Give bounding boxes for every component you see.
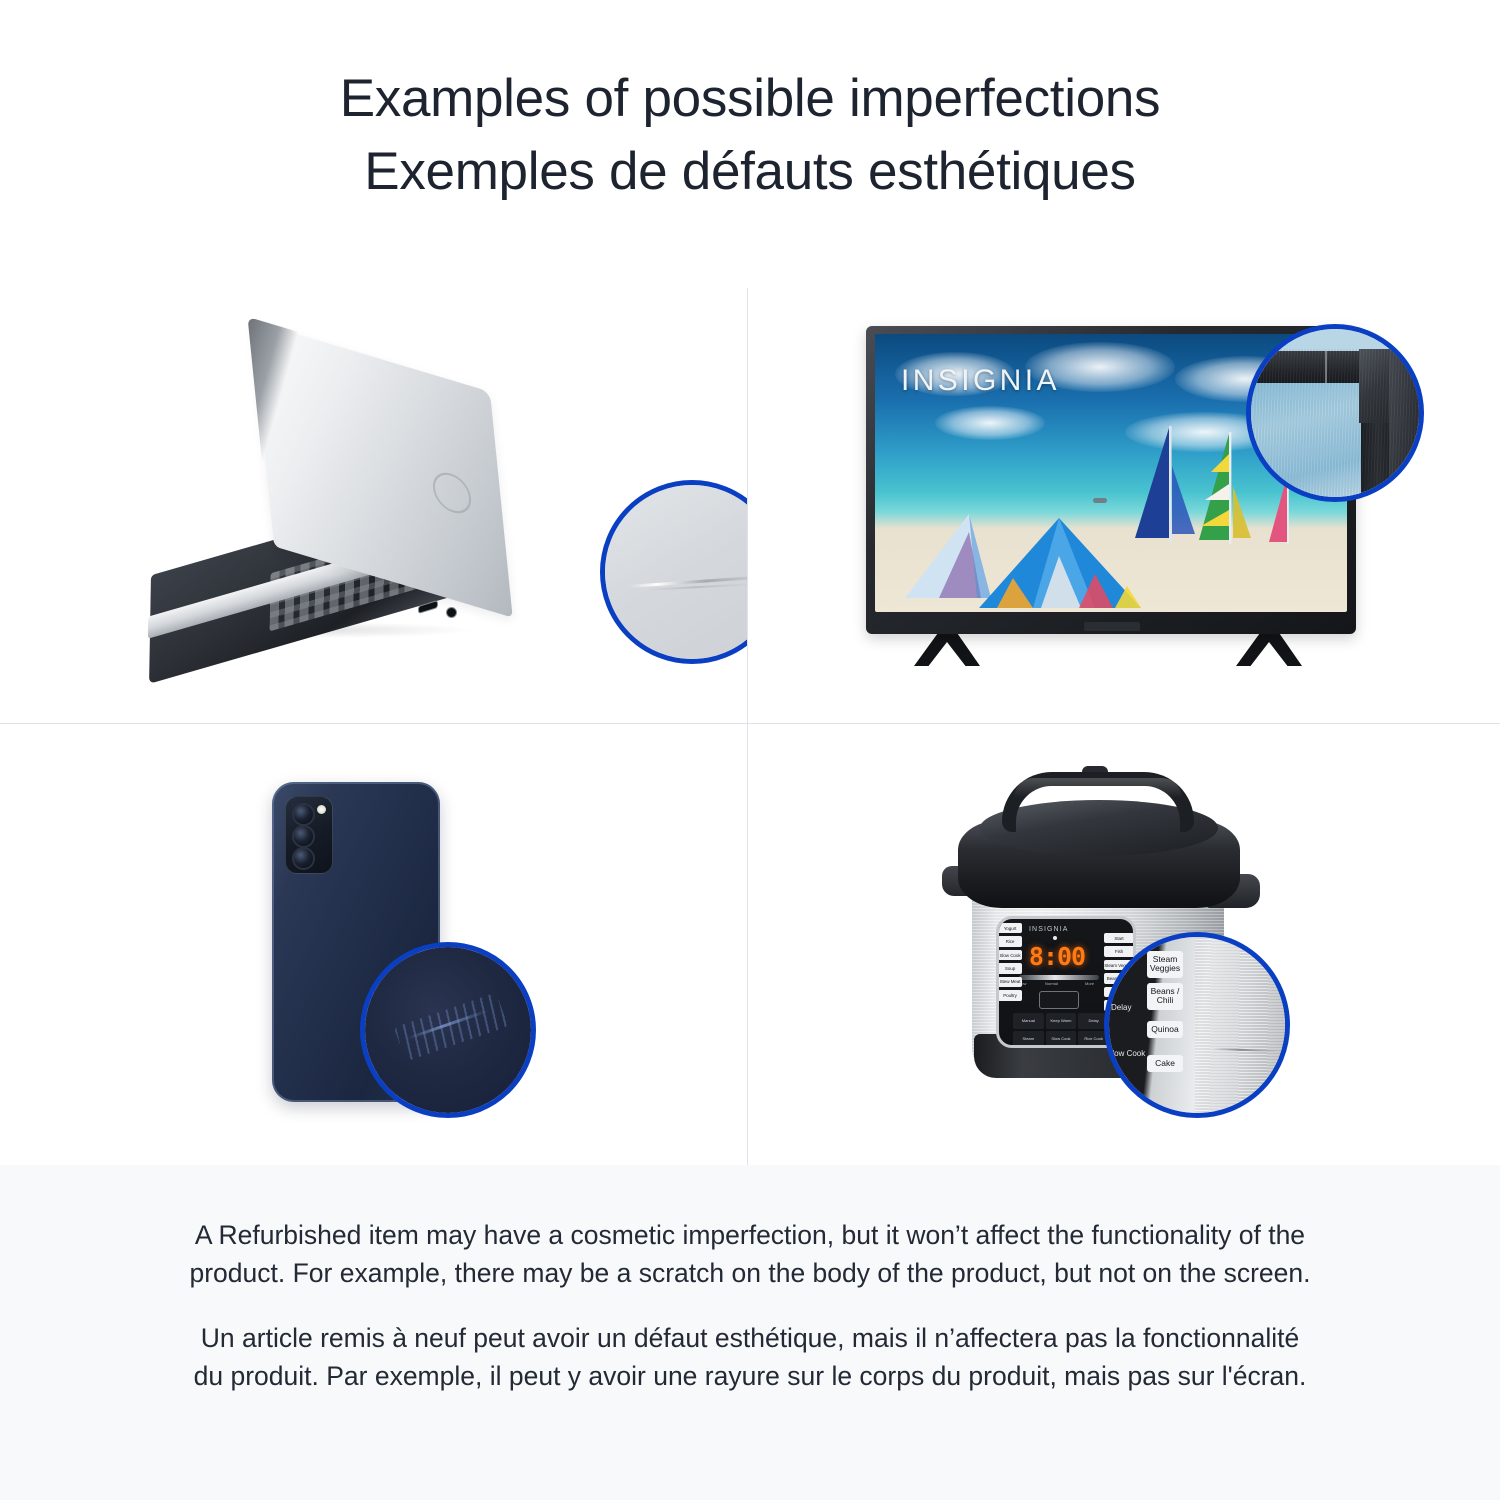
cooker-zoom-button-dark: Delay bbox=[1111, 1003, 1131, 1012]
footer-disclaimer: A Refurbished item may have a cosmetic i… bbox=[0, 1165, 1500, 1500]
camera-flash-icon bbox=[317, 805, 326, 814]
cooker-key[interactable]: Manual bbox=[1013, 1013, 1044, 1029]
example-cell-laptop bbox=[0, 288, 747, 723]
cooker-zoom-button: Quinoa bbox=[1147, 1021, 1183, 1038]
cooker-key[interactable]: Keep Warm bbox=[1046, 1013, 1077, 1029]
slider-label-more: More bbox=[1085, 981, 1094, 986]
tv-brand-logo: INSIGNIA bbox=[901, 364, 1060, 398]
cooker-button[interactable]: Soup bbox=[998, 963, 1022, 973]
phone-illustration bbox=[272, 782, 492, 1112]
page-title-english: Examples of possible imperfections bbox=[340, 62, 1161, 135]
header: Examples of possible imperfections Exemp… bbox=[0, 0, 1500, 288]
example-cell-tv: INSIGNIA bbox=[747, 288, 1500, 723]
tv-logo-bar bbox=[1084, 622, 1140, 631]
magnifier-circle-cooker: Steam Veggies Beans / Chili Quinoa Cake … bbox=[1104, 932, 1290, 1118]
cooker-status-indicator bbox=[1053, 936, 1057, 940]
cooker-stage: INSIGNIA 8:00 Low Normal More Yogurt Ric… bbox=[748, 724, 1500, 1165]
cooker-display-time: 8:00 bbox=[1029, 942, 1085, 971]
tv-zoom-grain-texture bbox=[1246, 349, 1424, 502]
cooker-key[interactable]: Steam bbox=[1013, 1031, 1044, 1047]
beached-sail-center bbox=[975, 516, 1165, 612]
cloud-shape bbox=[935, 406, 1045, 440]
cooker-handle-sheen bbox=[1014, 778, 1182, 798]
magnifier-circle-tv bbox=[1246, 324, 1424, 502]
cooker-key[interactable]: Slow Cook bbox=[1046, 1031, 1077, 1047]
cooker-button[interactable]: Poultry bbox=[998, 990, 1022, 1000]
cooker-button[interactable]: Stew Meat bbox=[998, 977, 1022, 987]
cooker-zoom-steel-texture bbox=[1195, 937, 1290, 1118]
refurbished-imperfections-infographic: Examples of possible imperfections Exemp… bbox=[0, 0, 1500, 1500]
camera-lens-icon bbox=[292, 825, 315, 848]
magnifier-circle-laptop bbox=[600, 480, 747, 664]
tv-zoom-seam-blemish bbox=[1325, 351, 1327, 383]
cooker-button[interactable]: Yogurt bbox=[998, 923, 1022, 933]
examples-grid: INSIGNIA bbox=[0, 288, 1500, 1165]
cooker-button[interactable]: Rice bbox=[998, 936, 1022, 946]
cooker-zoom-button: Beans / Chili bbox=[1147, 983, 1183, 1010]
cooker-keypad[interactable]: Manual Keep Warm Delay Steam Slow Cook R… bbox=[1013, 1013, 1109, 1047]
cooker-buttons-left[interactable]: Yogurt Rice Slow Cook Soup Stew Meat Pou… bbox=[998, 923, 1022, 1001]
camera-lens-icon bbox=[292, 803, 315, 826]
tv-illustration: INSIGNIA bbox=[866, 326, 1386, 688]
disclaimer-french: Un article remis à neuf peut avoir un dé… bbox=[183, 1320, 1318, 1395]
disclaimer-english: A Refurbished item may have a cosmetic i… bbox=[183, 1217, 1318, 1292]
laptop-stage bbox=[0, 288, 747, 723]
distant-boat bbox=[1093, 498, 1107, 503]
phone-camera-module bbox=[285, 796, 333, 874]
cooker-brand-logo: INSIGNIA bbox=[1029, 926, 1069, 933]
phone-stage bbox=[0, 724, 747, 1165]
cooker-pressure-slider[interactable] bbox=[1019, 975, 1099, 980]
cooker-zoom-button: Cake bbox=[1147, 1055, 1183, 1072]
example-cell-phone bbox=[0, 723, 747, 1165]
laptop-round-port bbox=[446, 607, 457, 618]
laptop-illustration bbox=[150, 360, 580, 650]
camera-lens-icon bbox=[292, 847, 315, 870]
slider-label-normal: Normal bbox=[1045, 981, 1058, 986]
cooker-display: 8:00 bbox=[1025, 942, 1089, 970]
magnifier-circle-phone bbox=[360, 942, 536, 1118]
cooker-mode-readout bbox=[1039, 991, 1079, 1009]
example-cell-cooker: INSIGNIA 8:00 Low Normal More Yogurt Ric… bbox=[747, 723, 1500, 1165]
page-title-french: Exemples de défauts esthétiques bbox=[364, 135, 1135, 208]
cooker-button[interactable]: Slow Cook bbox=[998, 950, 1022, 960]
cooker-zoom-button-dark: Slow Cook bbox=[1107, 1049, 1145, 1058]
cooker-zoom-button: Steam Veggies bbox=[1147, 951, 1183, 978]
laptop-lens-surface bbox=[605, 485, 747, 659]
tv-stage: INSIGNIA bbox=[748, 288, 1500, 723]
cooker-illustration: INSIGNIA 8:00 Low Normal More Yogurt Ric… bbox=[944, 766, 1304, 1122]
